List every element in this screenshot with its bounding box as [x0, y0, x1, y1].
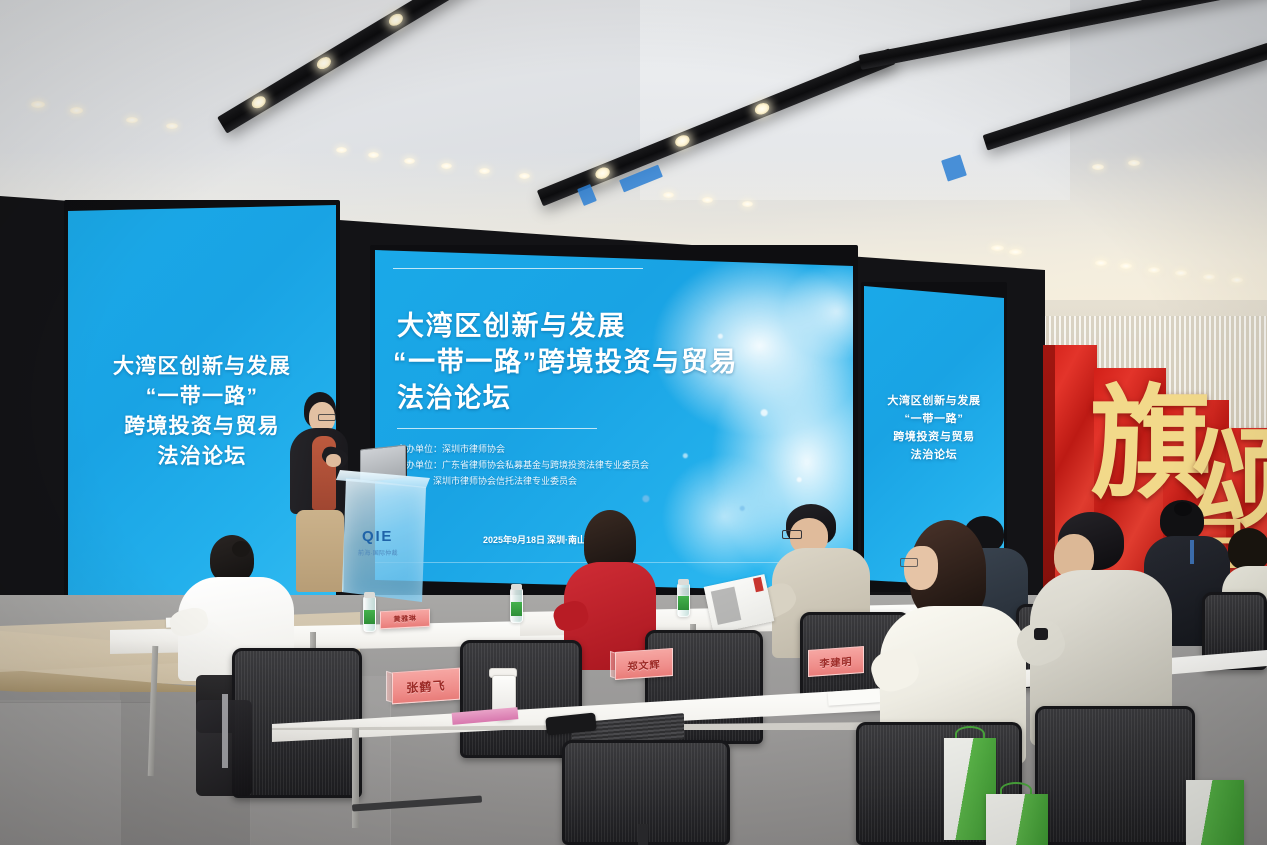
rolling-bag-handle	[222, 694, 228, 768]
center-screen-title-2: “一带一路”跨境投资与贸易	[393, 344, 738, 380]
attendee-7-face	[904, 546, 938, 590]
podium-sub-text: 前海·国际仲裁	[358, 548, 398, 557]
attendee-6-hair	[1228, 528, 1267, 570]
attendee-5-lanyard	[1190, 540, 1194, 564]
attendee-1-bun	[232, 541, 250, 557]
attendee-5-bun	[1174, 502, 1192, 516]
center-screen-top-rule	[393, 268, 643, 269]
bottle-label-3	[678, 596, 689, 610]
right-screen-title-3: 跨境投资与贸易	[893, 430, 975, 445]
placard-front-2-name: 郑文辉	[628, 655, 661, 672]
attendee-3-glasses-icon	[782, 530, 802, 539]
bottle-cap-2	[511, 584, 522, 590]
gift-bag-2[interactable]	[986, 794, 1048, 845]
left-screen-title-3: 跨境投资与贸易	[124, 413, 280, 441]
attendee-8-watch	[1034, 628, 1048, 640]
left-screen-title-4: 法治论坛	[157, 443, 246, 471]
chair-front-3[interactable]	[1035, 706, 1195, 845]
water-bottle-2[interactable]	[510, 588, 523, 623]
right-screen-title-4: 法治论坛	[911, 448, 958, 463]
chair-back-row-2[interactable]	[460, 640, 582, 758]
chair-front-post-1	[638, 824, 648, 845]
center-screen-title-1: 大湾区创新与发展	[397, 308, 626, 344]
host-value: 深圳市律师协会	[442, 444, 505, 454]
water-bottle-1[interactable]	[363, 596, 376, 632]
placard-front-1: 张鹤飞	[392, 668, 460, 705]
speaker-hand	[326, 454, 341, 467]
conference-hall-photo: 大湾区创新与发展 “一带一路” 跨境投资与贸易 法治论坛 大湾区创新与发展 “一…	[0, 0, 1267, 845]
cohost-value-1: 广东省律师协会私募基金与跨境投资法律专业委员会	[442, 460, 649, 470]
right-screen-title-1: 大湾区创新与发展	[887, 394, 980, 409]
placard-front-3: 李建明	[808, 646, 864, 677]
bottle-label-1	[364, 610, 375, 624]
attendee-7-glasses-icon	[900, 558, 918, 567]
right-screen-title-2: “一带一路”	[905, 412, 964, 427]
bottle-cap-3	[678, 579, 689, 585]
placard-front-3-name: 李建明	[820, 653, 853, 670]
water-bottle-3[interactable]	[677, 583, 690, 617]
placard-back-row: 黄雅琳	[380, 609, 430, 630]
center-screen-date: 2025年9月18日	[483, 533, 545, 546]
speaker-pants	[296, 510, 344, 592]
placard-front-2: 郑文辉	[615, 648, 673, 680]
center-screen-mid-rule	[397, 428, 597, 429]
speaker-glasses-icon	[318, 414, 336, 421]
placard-front-1-name: 张鹤飞	[406, 676, 446, 696]
left-screen-title-1: 大湾区创新与发展	[113, 353, 291, 381]
center-screen-cohost-line-1: 承办单位：广东省律师协会私募基金与跨境投资法律专业委员会	[397, 458, 649, 471]
gift-bag-3[interactable]	[1186, 780, 1244, 845]
placard-back-row-name: 黄雅琳	[393, 613, 416, 624]
left-screen-title-2: “一带一路”	[146, 383, 259, 411]
center-screen-title-3: 法治论坛	[397, 380, 511, 416]
center-screen-host-line: 主办单位：深圳市律师协会	[397, 442, 505, 455]
bottle-cap-1	[364, 592, 375, 598]
podium-logo: QIE	[362, 528, 393, 545]
table-front-leg-1	[352, 728, 359, 828]
bottle-label-2	[511, 602, 522, 616]
attendee-1-hair	[210, 535, 254, 583]
center-screen-cohost-line-2: 深圳市律师协会信托法律专业委员会	[433, 474, 577, 487]
